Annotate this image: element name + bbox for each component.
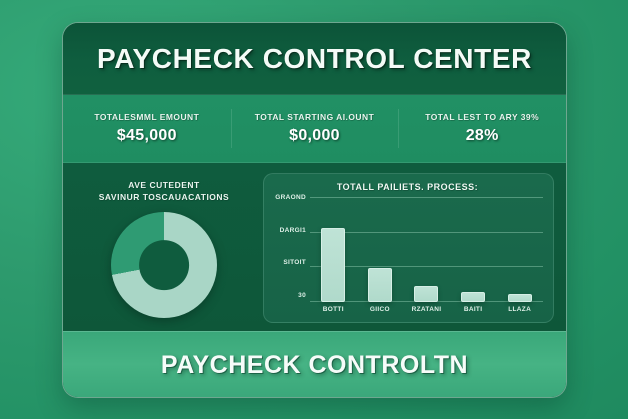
stat-card-percent[interactable]: TOTAL LEST TO ARY 39% 28% (398, 95, 566, 162)
header-band: PAYCHECK CONTROL CENTER (63, 23, 566, 95)
footer-band: PAYCHECK CONTROLTN (63, 331, 566, 398)
bar-chart-title: TOTALL PAILIETS. PROCESS: (272, 182, 543, 192)
y-axis-tick: SITOIT (283, 259, 306, 266)
bar[interactable] (368, 268, 392, 302)
donut-title-line-1: AVE CUTEDENT (128, 179, 200, 191)
stat-label: TOTAL STARTING AI.OUNT (255, 112, 374, 122)
stat-value: $0,000 (289, 127, 340, 145)
y-axis-tick: DARGI1 (280, 227, 306, 234)
donut-chart-panel: AVE CUTEDENT SAVINUR TOSCAUACATIONS (75, 173, 253, 323)
y-axis-tick: 30 (298, 292, 306, 299)
x-axis: BOTTIGIICORZATANIBAITILLAZA (310, 302, 543, 316)
stat-label: TOTALESMML EMOUNT (94, 112, 199, 122)
page-title: PAYCHECK CONTROL CENTER (97, 43, 532, 75)
donut-hole (139, 240, 189, 290)
y-axis: GRAONDDARGI1SITOIT30 (272, 197, 310, 316)
bar-chart-plot-region: GRAONDDARGI1SITOIT30 BOTTIGIICORZATANIBA… (272, 197, 543, 316)
stat-label: TOTAL LEST TO ARY 39% (425, 112, 539, 122)
bar[interactable] (461, 292, 485, 302)
donut-chart[interactable] (111, 212, 217, 318)
x-axis-tick: BAITI (454, 306, 492, 313)
bar[interactable] (508, 294, 532, 302)
stat-value: $45,000 (117, 127, 177, 145)
x-axis-tick: RZATANI (407, 306, 445, 313)
charts-area: AVE CUTEDENT SAVINUR TOSCAUACATIONS TOTA… (63, 163, 566, 331)
stats-band: TOTALESMML EMOUNT $45,000 TOTAL STARTING… (63, 95, 566, 163)
y-axis-tick: GRAOND (275, 194, 306, 201)
bar[interactable] (321, 228, 345, 302)
stat-card-starting-amount[interactable]: TOTAL STARTING AI.OUNT $0,000 (231, 95, 399, 162)
plot-body: BOTTIGIICORZATANIBAITILLAZA (310, 197, 543, 316)
bar-chart-panel: TOTALL PAILIETS. PROCESS: GRAONDDARGI1SI… (263, 173, 554, 323)
footer-title: PAYCHECK CONTROLTN (161, 351, 468, 380)
stat-value: 28% (466, 127, 499, 145)
x-axis-tick: GIICO (361, 306, 399, 313)
donut-title-line-2: SAVINUR TOSCAUACATIONS (99, 191, 229, 203)
bar[interactable] (414, 286, 438, 302)
stat-card-total-amount[interactable]: TOTALESMML EMOUNT $45,000 (63, 95, 231, 162)
bar-series (310, 197, 543, 302)
x-axis-tick: BOTTI (314, 306, 352, 313)
dashboard-card: PAYCHECK CONTROL CENTER TOTALESMML EMOUN… (62, 22, 567, 398)
x-axis-tick: LLAZA (501, 306, 539, 313)
